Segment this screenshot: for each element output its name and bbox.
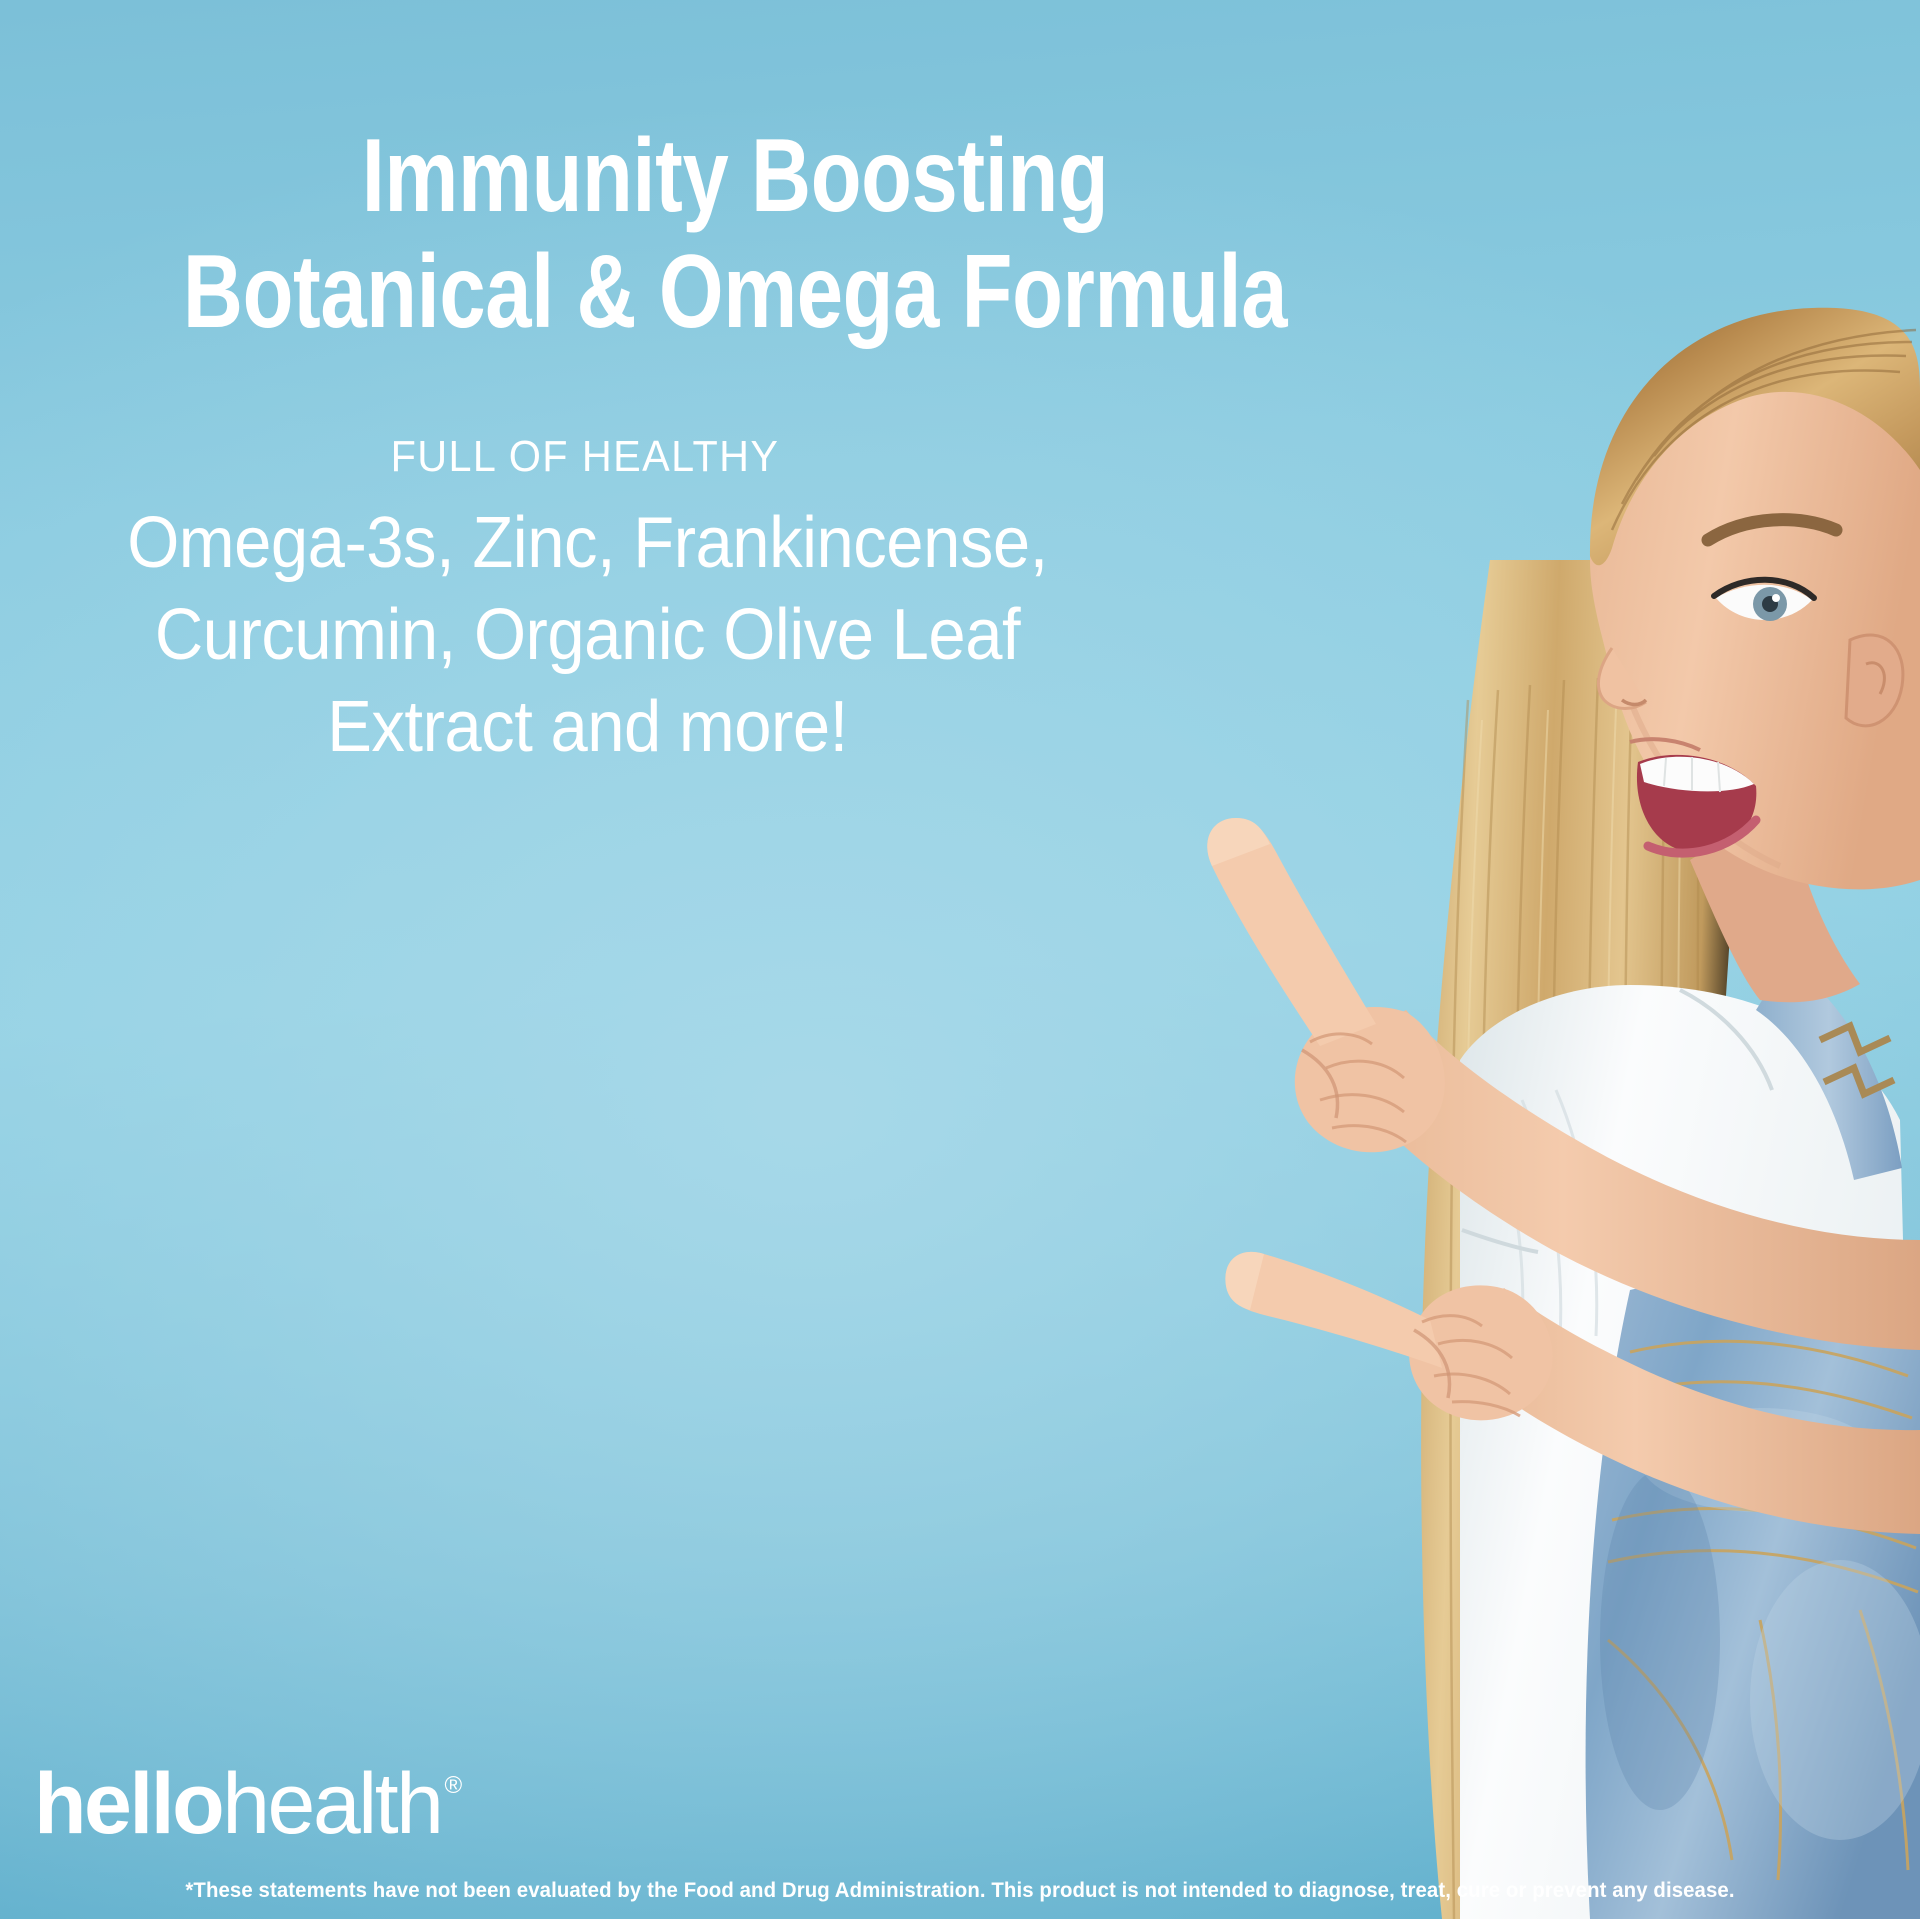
logo-hello: hello — [34, 1756, 222, 1852]
ingredients-line-3: Extract and more! — [41, 681, 1134, 773]
page-title: Immunity Boosting Botanical & Omega Form… — [147, 118, 1323, 351]
ingredients-line-1: Omega-3s, Zinc, Frankincense, — [41, 497, 1134, 589]
headline-line-1: Immunity Boosting — [362, 118, 1109, 234]
logo-health: health — [222, 1756, 441, 1852]
ingredients-list: Omega-3s, Zinc, Frankincense, Curcumin, … — [41, 497, 1134, 773]
registered-trademark-icon: ® — [445, 1772, 463, 1799]
ingredients-line-2: Curcumin, Organic Olive Leaf — [41, 589, 1134, 681]
fda-disclaimer: *These statements have not been evaluate… — [29, 1879, 1891, 1903]
eyebrow-label: FULL OF HEALTHY — [35, 432, 1135, 482]
headline-line-2: Botanical & Omega Formula — [147, 234, 1323, 350]
advertisement-banner: Immunity Boosting Botanical & Omega Form… — [0, 0, 1920, 1919]
brand-logo[interactable]: hellohealth® — [34, 1761, 462, 1847]
